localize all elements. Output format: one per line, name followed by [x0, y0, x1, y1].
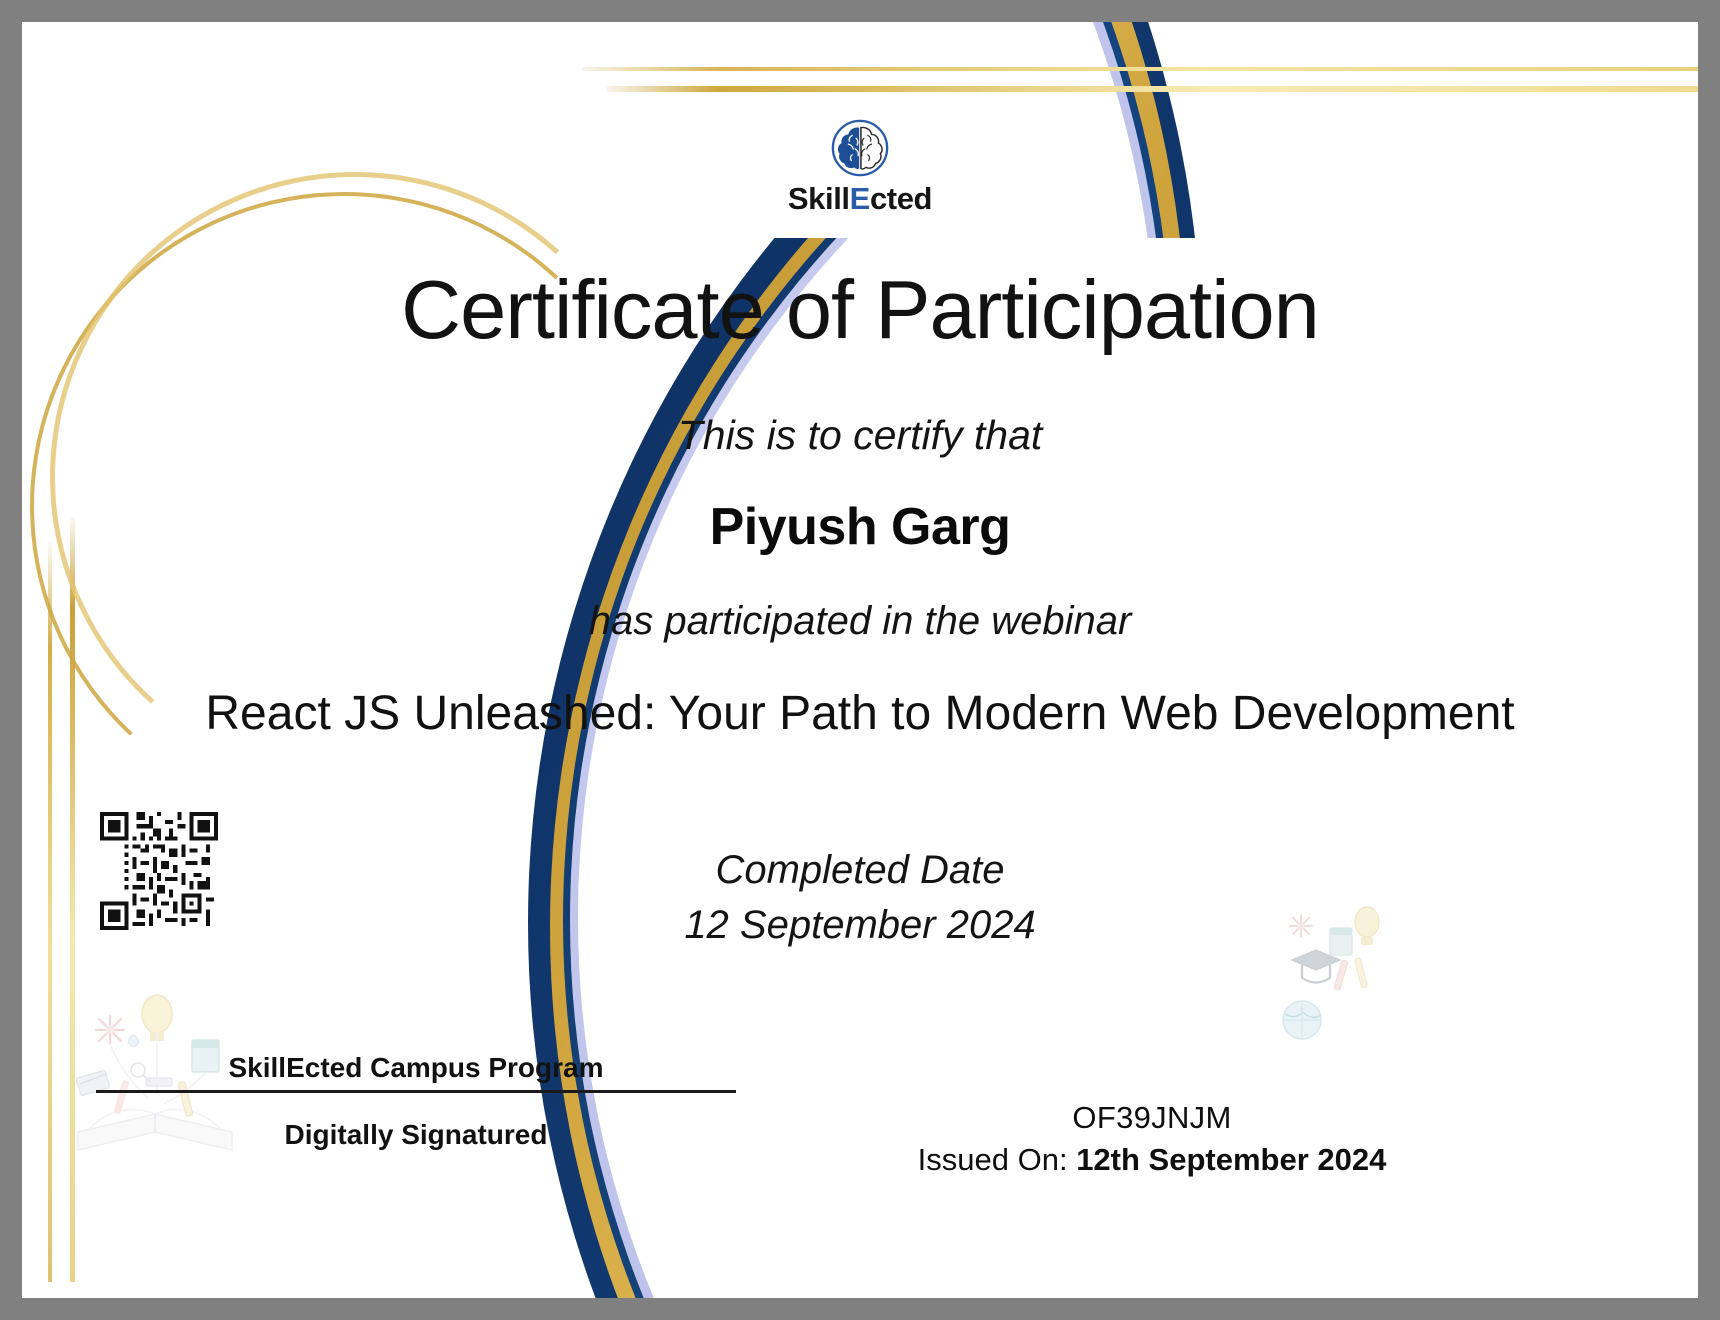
signature-caption: Digitally Signatured — [96, 1119, 736, 1151]
brand-logo: SkillEcted — [22, 117, 1698, 214]
completed-date-value: 12 September 2024 — [22, 903, 1698, 948]
brand-wordmark: SkillEcted — [788, 183, 932, 214]
signature-block: SkillEcted Campus Program Digitally Sign… — [96, 1052, 736, 1151]
recipient-name: Piyush Garg — [22, 497, 1698, 557]
issued-on-row: Issued On: 12th September 2024 — [842, 1142, 1462, 1178]
signature-organization: SkillEcted Campus Program — [96, 1052, 736, 1090]
signature-line — [96, 1090, 736, 1093]
certify-line: This is to certify that — [22, 412, 1698, 459]
brain-icon — [829, 117, 891, 179]
brand-wordmark-suffix: cted — [870, 181, 932, 216]
webinar-title: React JS Unleashed: Your Path to Modern … — [202, 682, 1518, 745]
certificate-id: OF39JNJM — [842, 1100, 1462, 1136]
page-title: Certificate of Participation — [22, 268, 1698, 351]
issued-on-label: Issued On: — [918, 1142, 1068, 1177]
qr-code-icon[interactable] — [100, 812, 218, 930]
participation-line: has participated in the webinar — [22, 599, 1698, 644]
issue-info-block: OF39JNJM Issued On: 12th September 2024 — [842, 1100, 1462, 1178]
brand-wordmark-accent: E — [850, 181, 870, 216]
issued-on-value: 12th September 2024 — [1076, 1142, 1386, 1177]
completed-date-label: Completed Date — [22, 848, 1698, 893]
brand-wordmark-prefix: Skill — [788, 181, 850, 216]
certificate-card: SkillEcted Certificate of Participation … — [22, 22, 1698, 1298]
